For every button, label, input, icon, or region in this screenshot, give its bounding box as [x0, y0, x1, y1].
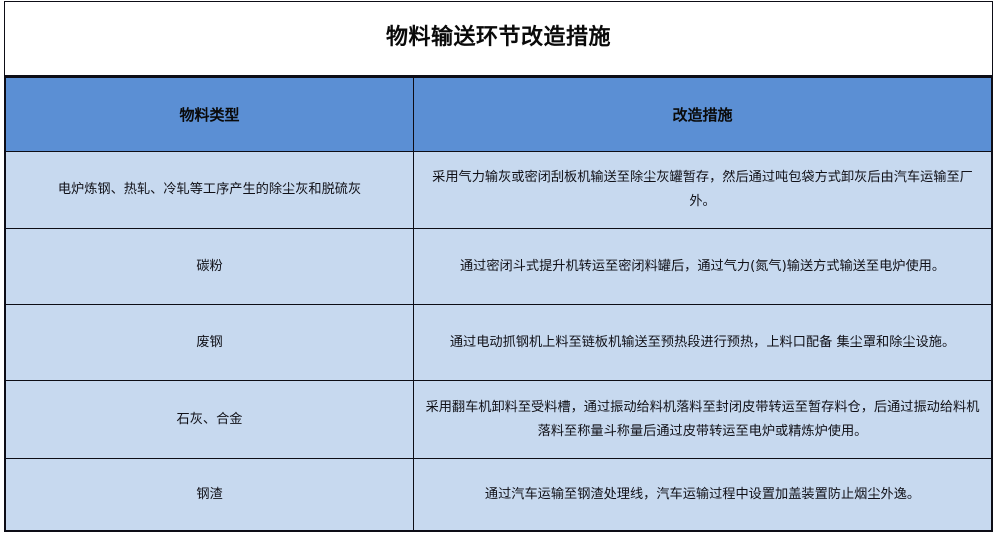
table-row: 电炉炼钢、热轧、冷轧等工序产生的除尘灰和脱硫灰 采用气力输灰或密闭刮板机输送至除…	[6, 152, 992, 229]
cell-material-type: 碳粉	[6, 229, 414, 305]
cell-measure: 采用翻车机卸料至受料槽，通过振动给料机落料至封闭皮带转运至暂存料仓，后通过振动给…	[414, 381, 992, 459]
cell-measure: 通过汽车运输至钢渣处理线，汽车运输过程中设置加盖装置防止烟尘外逸。	[414, 459, 992, 531]
cell-measure: 采用气力输灰或密闭刮板机输送至除尘灰罐暂存，然后通过吨包袋方式卸灰后由汽车运输至…	[414, 152, 992, 229]
table-row: 碳粉 通过密闭斗式提升机转运至密闭料罐后，通过气力(氮气)输送方式输送至电炉使用…	[6, 229, 992, 305]
table-row: 废钢 通过电动抓钢机上料至链板机输送至预热段进行预热，上料口配备 集尘罩和除尘设…	[6, 305, 992, 381]
table-row: 钢渣 通过汽车运输至钢渣处理线，汽车运输过程中设置加盖装置防止烟尘外逸。	[6, 459, 992, 531]
table-header: 物料类型 改造措施	[6, 78, 992, 152]
table-body: 电炉炼钢、热轧、冷轧等工序产生的除尘灰和脱硫灰 采用气力输灰或密闭刮板机输送至除…	[6, 152, 992, 531]
table-row: 石灰、合金 采用翻车机卸料至受料槽，通过振动给料机落料至封闭皮带转运至暂存料仓，…	[6, 381, 992, 459]
page-root: 物料输送环节改造措施 物料类型 改造措施 电炉炼钢、热轧、冷轧等工序产生的除尘灰…	[0, 0, 997, 533]
column-header-material-type: 物料类型	[6, 78, 414, 152]
column-header-measure: 改造措施	[414, 78, 992, 152]
cell-material-type: 废钢	[6, 305, 414, 381]
table-header-row: 物料类型 改造措施	[6, 78, 992, 152]
measures-table: 物料类型 改造措施 电炉炼钢、热轧、冷轧等工序产生的除尘灰和脱硫灰 采用气力输灰…	[5, 77, 992, 531]
cell-material-type: 石灰、合金	[6, 381, 414, 459]
table-frame: 物料输送环节改造措施 物料类型 改造措施 电炉炼钢、热轧、冷轧等工序产生的除尘灰…	[4, 1, 993, 532]
title-bar: 物料输送环节改造措施	[5, 2, 992, 77]
cell-measure: 通过电动抓钢机上料至链板机输送至预热段进行预热，上料口配备 集尘罩和除尘设施。	[414, 305, 992, 381]
page-title: 物料输送环节改造措施	[386, 25, 611, 51]
cell-material-type: 钢渣	[6, 459, 414, 531]
cell-measure: 通过密闭斗式提升机转运至密闭料罐后，通过气力(氮气)输送方式输送至电炉使用。	[414, 229, 992, 305]
cell-material-type: 电炉炼钢、热轧、冷轧等工序产生的除尘灰和脱硫灰	[6, 152, 414, 229]
